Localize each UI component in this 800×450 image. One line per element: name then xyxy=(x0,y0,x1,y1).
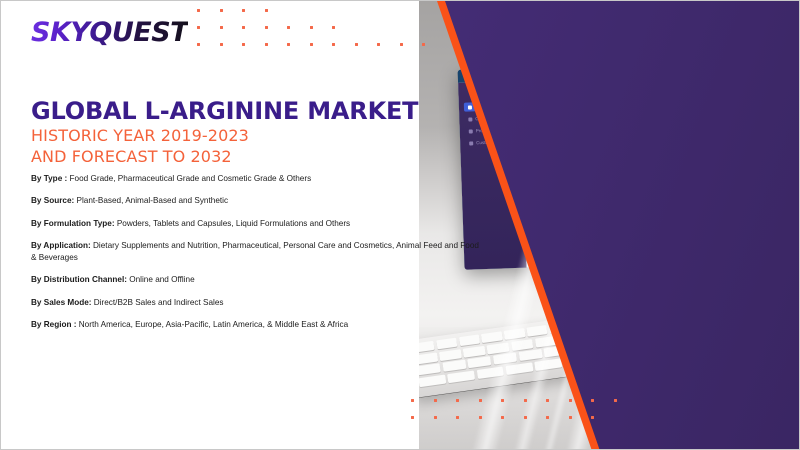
segment-label: By Sales Mode: xyxy=(31,298,94,307)
subheadline-line-1: HISTORIC YEAR 2019-2023 xyxy=(31,125,249,146)
segment-label: By Region : xyxy=(31,320,79,329)
segment-item: By Distribution Channel: Online and Offl… xyxy=(31,274,481,286)
decorative-dot xyxy=(524,416,527,419)
decorative-dot xyxy=(591,399,594,402)
skyquest-logo: SKYQUEST xyxy=(31,17,188,48)
segment-label: By Type : xyxy=(31,174,70,183)
decorative-dot xyxy=(501,399,504,402)
decorative-dot xyxy=(332,43,335,46)
decorative-dot xyxy=(220,9,223,12)
decorative-dot xyxy=(220,43,223,46)
segment-label: By Application: xyxy=(31,241,93,250)
segment-value: Powders, Tablets and Capsules, Liquid Fo… xyxy=(117,219,350,228)
decorative-dot xyxy=(287,43,290,46)
decorative-dot xyxy=(591,416,594,419)
decorative-dot xyxy=(310,26,313,29)
decorative-dot xyxy=(355,43,358,46)
decorative-dot xyxy=(265,43,268,46)
decorative-dots-top xyxy=(197,9,425,60)
decorative-dot xyxy=(501,416,504,419)
dot-row xyxy=(197,26,425,29)
decorative-dot xyxy=(456,416,459,419)
segment-item: By Sales Mode: Direct/B2B Sales and Indi… xyxy=(31,297,481,309)
decorative-dot xyxy=(569,416,572,419)
decorative-dot xyxy=(614,399,617,402)
segment-value: Plant-Based, Animal-Based and Synthetic xyxy=(77,196,229,205)
dot-row xyxy=(197,9,425,12)
decorative-dot xyxy=(265,26,268,29)
decorative-dot xyxy=(377,43,380,46)
decorative-dot xyxy=(456,399,459,402)
decorative-dot xyxy=(400,43,403,46)
segment-item: By Application: Dietary Supplements and … xyxy=(31,240,481,264)
decorative-dot xyxy=(287,26,290,29)
page-subheadline: HISTORIC YEAR 2019-2023 AND FORECAST TO … xyxy=(31,125,249,168)
dot-row xyxy=(411,399,617,402)
decorative-dot xyxy=(332,26,335,29)
segment-value: Direct/B2B Sales and Indirect Sales xyxy=(94,298,224,307)
segment-item: By Region : North America, Europe, Asia-… xyxy=(31,319,481,331)
segment-label: By Source: xyxy=(31,196,77,205)
segment-item: By Type : Food Grade, Pharmaceutical Gra… xyxy=(31,173,481,185)
segment-list: By Type : Food Grade, Pharmaceutical Gra… xyxy=(31,173,481,342)
decorative-dot xyxy=(569,399,572,402)
page-headline: GLOBAL L-ARGININE MARKET xyxy=(31,99,418,123)
decorative-dot xyxy=(265,9,268,12)
segment-value: North America, Europe, Asia-Pacific, Lat… xyxy=(79,320,348,329)
dot-row xyxy=(197,43,425,46)
segment-label: By Formulation Type: xyxy=(31,219,117,228)
segment-value: Dietary Supplements and Nutrition, Pharm… xyxy=(31,241,479,262)
segment-value: Food Grade, Pharmaceutical Grade and Cos… xyxy=(70,174,312,183)
decorative-dot xyxy=(422,43,425,46)
decorative-dot xyxy=(310,43,313,46)
decorative-dot xyxy=(197,26,200,29)
segment-item: By Source: Plant-Based, Animal-Based and… xyxy=(31,195,481,207)
dot-row xyxy=(411,416,617,419)
decorative-dot xyxy=(479,416,482,419)
decorative-dot xyxy=(546,399,549,402)
decorative-dot xyxy=(411,416,414,419)
decorative-dot xyxy=(479,399,482,402)
decorative-dot xyxy=(197,43,200,46)
decorative-dot xyxy=(524,399,527,402)
decorative-dot xyxy=(546,416,549,419)
decorative-dot xyxy=(434,416,437,419)
decorative-dot xyxy=(242,9,245,12)
decorative-dots-bottom xyxy=(411,399,617,433)
decorative-dot xyxy=(220,26,223,29)
segment-label: By Distribution Channel: xyxy=(31,275,129,284)
decorative-dot xyxy=(411,399,414,402)
decorative-dot xyxy=(242,43,245,46)
subheadline-line-2: AND FORECAST TO 2032 xyxy=(31,146,249,167)
segment-item: By Formulation Type: Powders, Tablets an… xyxy=(31,218,481,230)
segment-value: Online and Offline xyxy=(129,275,194,284)
slide-canvas: File Edit View Go Window Help ▾ 100% WEB… xyxy=(0,0,800,450)
decorative-dot xyxy=(434,399,437,402)
decorative-dot xyxy=(242,26,245,29)
decorative-dot xyxy=(197,9,200,12)
